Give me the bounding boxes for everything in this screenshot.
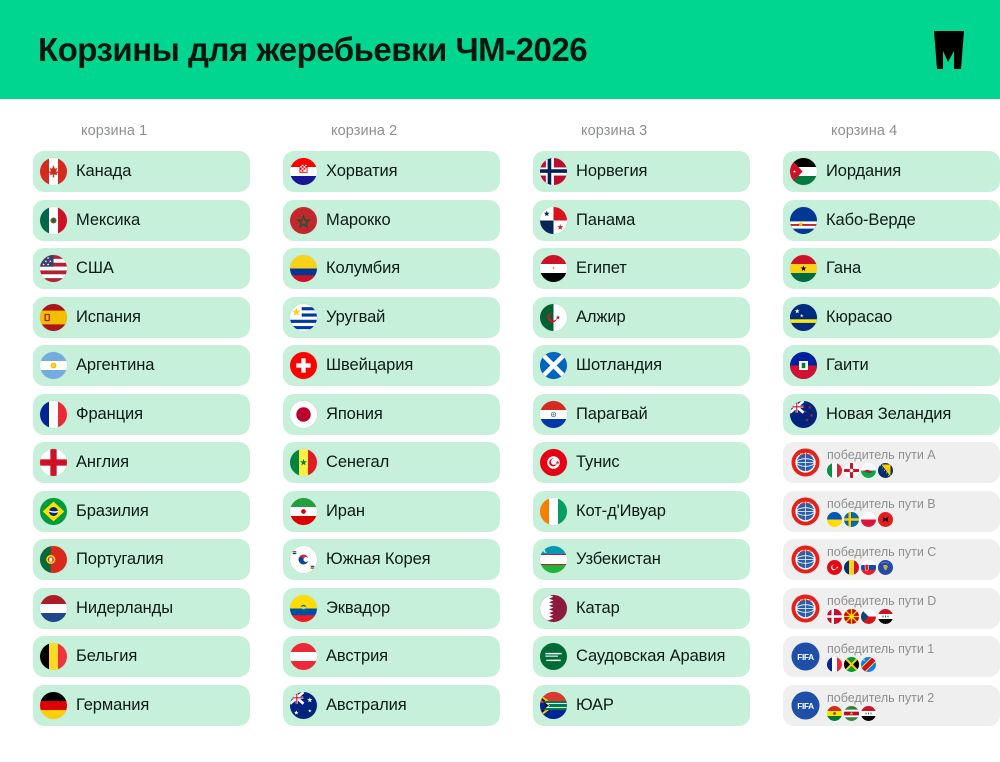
flag-icon-sn	[290, 449, 317, 476]
flag-icon-ba	[878, 463, 893, 478]
team-name: Кюрасао	[826, 308, 892, 327]
team-name: США	[76, 259, 114, 278]
team-row[interactable]: ЮАР	[533, 685, 750, 726]
team-name: Парагвай	[576, 405, 648, 424]
team-row[interactable]: Шотландия	[533, 345, 750, 386]
uefa-badge-icon: UEFA	[791, 594, 820, 623]
team-row[interactable]: Кюрасао	[783, 297, 1000, 338]
flag-icon-ma	[290, 207, 317, 234]
team-row[interactable]: Австралия	[283, 685, 500, 726]
team-row[interactable]: Бразилия	[33, 491, 250, 532]
flag-icon-ua	[827, 512, 842, 527]
team-name: Бельгия	[76, 647, 137, 666]
pot-column-1: корзина 1КанадаМексикаСШАИспанияАргентин…	[33, 99, 250, 726]
team-row[interactable]: США	[33, 248, 250, 289]
flag-icon-ar	[40, 352, 67, 379]
team-row[interactable]: Гаити	[783, 345, 1000, 386]
team-row[interactable]: Мексика	[33, 200, 250, 241]
pot-row-list: ИорданияКабо-ВердеГанаКюрасаоГаитиНовая …	[783, 151, 1000, 726]
flag-icon-cz	[861, 609, 876, 624]
team-row[interactable]: Панама	[533, 200, 750, 241]
pot-column-3: корзина 3НорвегияПанамаЕгипетАлжирШотлан…	[533, 99, 750, 726]
flag-icon-sct	[540, 352, 567, 379]
pot-heading: корзина 1	[33, 99, 250, 151]
uefa-badge-icon: UEFA	[791, 497, 820, 526]
flag-icon-mx	[40, 207, 67, 234]
team-name: Швейцария	[326, 356, 413, 375]
page-title: Корзины для жеребьевки ЧМ-2026	[38, 31, 587, 69]
team-name: Испания	[76, 308, 141, 327]
team-row[interactable]: Хорватия	[283, 151, 500, 192]
svg-text:FIFA: FIFA	[797, 652, 814, 662]
flag-icon-pl	[861, 512, 876, 527]
playoff-label: победитель пути C	[827, 545, 936, 559]
playoff-label: победитель пути B	[827, 497, 936, 511]
flag-icon-es	[40, 304, 67, 331]
flag-icon-no	[540, 158, 567, 185]
svg-text:UEFA: UEFA	[799, 548, 812, 554]
team-row[interactable]: Саудовская Аравия	[533, 636, 750, 677]
pot-column-4: корзина 4ИорданияКабо-ВердеГанаКюрасаоГа…	[783, 99, 1000, 726]
flag-icon-sk	[861, 560, 876, 575]
pot-row-list: ХорватияМароккоКолумбияУругвайШвейцарияЯ…	[283, 151, 500, 726]
flag-icon-ec	[290, 595, 317, 622]
playoff-row[interactable]: FIFAпобедитель пути 1	[783, 636, 1000, 677]
team-row[interactable]: Иран	[283, 491, 500, 532]
flag-icon-gh	[790, 255, 817, 282]
flag-icon-fr	[40, 401, 67, 428]
team-name: Норвегия	[576, 162, 647, 181]
team-row[interactable]: Австрия	[283, 636, 500, 677]
team-name: Австралия	[326, 696, 407, 715]
team-name: Бразилия	[76, 502, 149, 521]
svg-text:UEFA: UEFA	[799, 500, 812, 506]
flag-icon-bo	[827, 706, 842, 721]
flag-icon-dk	[827, 609, 842, 624]
flag-icon-qa	[540, 595, 567, 622]
flag-icon-ir	[290, 498, 317, 525]
team-row[interactable]: Колумбия	[283, 248, 500, 289]
flag-icon-ht	[790, 352, 817, 379]
team-row[interactable]: Бельгия	[33, 636, 250, 677]
flag-icon-iq	[861, 706, 876, 721]
flag-icon-pt	[40, 546, 67, 573]
team-name: Германия	[76, 696, 149, 715]
candidate-flag-list	[827, 512, 936, 527]
flag-icon-de	[40, 692, 67, 719]
team-row[interactable]: Алжир	[533, 297, 750, 338]
team-row[interactable]: Эквадор	[283, 588, 500, 629]
team-name: Египет	[576, 259, 627, 278]
playoff-body: победитель пути B	[827, 496, 936, 527]
flag-icon-ch	[290, 352, 317, 379]
flag-icon-nc	[827, 657, 842, 672]
flag-icon-tn	[540, 449, 567, 476]
flag-icon-eg	[540, 255, 567, 282]
team-name: Колумбия	[326, 259, 400, 278]
team-name: Марокко	[326, 211, 391, 230]
team-name: Австрия	[326, 647, 388, 666]
team-name: Гаити	[826, 356, 869, 375]
team-name: Тунис	[576, 453, 619, 472]
team-row[interactable]: Узбекистан	[533, 539, 750, 580]
team-name: Гана	[826, 259, 861, 278]
team-name: Панама	[576, 211, 635, 230]
playoff-row[interactable]: UEFAпобедитель пути A	[783, 442, 1000, 483]
team-row[interactable]: Германия	[33, 685, 250, 726]
flag-icon-br	[40, 498, 67, 525]
team-row[interactable]: Гана	[783, 248, 1000, 289]
flag-icon-ci	[540, 498, 567, 525]
team-name: Узбекистан	[576, 550, 661, 569]
flag-icon-xk	[878, 560, 893, 575]
playoff-label: победитель пути A	[827, 448, 936, 462]
flag-icon-uy	[290, 304, 317, 331]
playoff-body: победитель пути A	[827, 447, 936, 478]
flag-icon-mk	[844, 609, 859, 624]
team-name: ЮАР	[576, 696, 614, 715]
team-name: Саудовская Аравия	[576, 647, 725, 666]
flag-icon-py	[540, 401, 567, 428]
team-row[interactable]: Сенегал	[283, 442, 500, 483]
team-row[interactable]: Канада	[33, 151, 250, 192]
uefa-badge-icon: UEFA	[791, 545, 820, 574]
flag-icon-cd	[861, 657, 876, 672]
playoff-label: победитель пути 2	[827, 691, 934, 705]
team-name: Аргентина	[76, 356, 154, 375]
team-row[interactable]: Южная Корея	[283, 539, 500, 580]
pot-column-2: корзина 2ХорватияМароккоКолумбияУругвайШ…	[283, 99, 500, 726]
pot-row-list: КанадаМексикаСШАИспанияАргентинаФранцияА…	[33, 151, 250, 726]
playoff-label: победитель пути D	[827, 594, 936, 608]
flag-icon-wal	[861, 463, 876, 478]
flag-icon-ro	[844, 560, 859, 575]
pot-heading: корзина 2	[283, 99, 500, 151]
team-name: Кабо-Верде	[826, 211, 916, 230]
candidate-flag-list	[827, 706, 934, 721]
uefa-badge-icon: UEFA	[791, 448, 820, 477]
team-name: Иордания	[826, 162, 901, 181]
svg-text:UEFA: UEFA	[799, 597, 812, 603]
team-name: Сенегал	[326, 453, 389, 472]
flag-icon-pa	[540, 207, 567, 234]
flag-icon-cw	[790, 304, 817, 331]
team-name: Уругвай	[326, 308, 385, 327]
flag-icon-za	[540, 692, 567, 719]
team-name: Португалия	[76, 550, 163, 569]
team-name: Нидерланды	[76, 599, 173, 618]
flag-icon-jm	[844, 657, 859, 672]
pot-row-list: НорвегияПанамаЕгипетАлжирШотландияПарагв…	[533, 151, 750, 726]
flag-icon-at	[290, 643, 317, 670]
team-row[interactable]: Иордания	[783, 151, 1000, 192]
team-row[interactable]: Испания	[33, 297, 250, 338]
flag-icon-be	[40, 643, 67, 670]
flag-icon-sr	[844, 706, 859, 721]
team-name: Канада	[76, 162, 131, 181]
publisher-logo-icon	[932, 29, 966, 71]
svg-text:FIFA: FIFA	[797, 700, 814, 710]
page-header: Корзины для жеребьевки ЧМ-2026	[0, 0, 1000, 99]
team-name: Южная Корея	[326, 550, 431, 569]
team-row[interactable]: Норвегия	[533, 151, 750, 192]
flag-icon-uz	[540, 546, 567, 573]
flag-icon-al	[878, 512, 893, 527]
team-name: Франция	[76, 405, 143, 424]
team-name: Катар	[576, 599, 620, 618]
team-name: Алжир	[576, 308, 626, 327]
team-name: Япония	[326, 405, 383, 424]
team-name: Иран	[326, 502, 365, 521]
team-row[interactable]: Нидерланды	[33, 588, 250, 629]
team-name: Новая Зеландия	[826, 405, 951, 424]
team-row[interactable]: Япония	[283, 394, 500, 435]
flag-icon-tr	[827, 560, 842, 575]
flag-icon-hr	[290, 158, 317, 185]
flag-icon-dz	[540, 304, 567, 331]
team-row[interactable]: Катар	[533, 588, 750, 629]
playoff-body: победитель пути D	[827, 593, 936, 624]
team-row[interactable]: Аргентина	[33, 345, 250, 386]
team-name: Хорватия	[326, 162, 397, 181]
team-row[interactable]: Египет	[533, 248, 750, 289]
team-name: Шотландия	[576, 356, 662, 375]
team-row[interactable]: Тунис	[533, 442, 750, 483]
flag-icon-jp	[290, 401, 317, 428]
flag-icon-kr	[290, 546, 317, 573]
team-row[interactable]: Франция	[33, 394, 250, 435]
pots-board: корзина 1КанадаМексикаСШАИспанияАргентин…	[0, 99, 1000, 726]
flag-icon-sa	[540, 643, 567, 670]
playoff-row[interactable]: FIFAпобедитель пути 2	[783, 685, 1000, 726]
team-row[interactable]: Кабо-Верде	[783, 200, 1000, 241]
flag-icon-jo	[790, 158, 817, 185]
flag-icon-us	[40, 255, 67, 282]
fifa-badge-icon: FIFA	[791, 691, 820, 720]
playoff-row[interactable]: UEFAпобедитель пути C	[783, 539, 1000, 580]
flag-icon-au	[290, 692, 317, 719]
playoff-body: победитель пути 1	[827, 641, 934, 672]
candidate-flag-list	[827, 657, 934, 672]
team-name: Мексика	[76, 211, 140, 230]
flag-icon-en	[40, 449, 67, 476]
pot-heading: корзина 4	[783, 99, 1000, 151]
svg-text:UEFA: UEFA	[799, 451, 812, 457]
team-row[interactable]: Португалия	[33, 539, 250, 580]
flag-icon-ca	[40, 158, 67, 185]
flag-icon-nz	[790, 401, 817, 428]
candidate-flag-list	[827, 609, 936, 624]
flag-icon-co	[290, 255, 317, 282]
playoff-body: победитель пути 2	[827, 690, 934, 721]
flag-icon-it	[827, 463, 842, 478]
playoff-row[interactable]: UEFAпобедитель пути D	[783, 588, 1000, 629]
team-row[interactable]: Швейцария	[283, 345, 500, 386]
pot-heading: корзина 3	[533, 99, 750, 151]
playoff-label: победитель пути 1	[827, 642, 934, 656]
candidate-flag-list	[827, 463, 936, 478]
team-row[interactable]: Уругвай	[283, 297, 500, 338]
candidate-flag-list	[827, 560, 936, 575]
team-name: Эквадор	[326, 599, 390, 618]
team-name: Англия	[76, 453, 129, 472]
team-row[interactable]: Англия	[33, 442, 250, 483]
flag-icon-nl	[40, 595, 67, 622]
fifa-badge-icon: FIFA	[791, 642, 820, 671]
flag-icon-cv	[790, 207, 817, 234]
team-row[interactable]: Кот-д'Ивуар	[533, 491, 750, 532]
team-row[interactable]: Парагвай	[533, 394, 750, 435]
team-row[interactable]: Марокко	[283, 200, 500, 241]
playoff-body: победитель пути C	[827, 544, 936, 575]
team-name: Кот-д'Ивуар	[576, 502, 666, 521]
flag-icon-se	[844, 512, 859, 527]
flag-icon-nir	[844, 463, 859, 478]
playoff-row[interactable]: UEFAпобедитель пути B	[783, 491, 1000, 532]
flag-icon-iq	[878, 609, 893, 624]
team-row[interactable]: Новая Зеландия	[783, 394, 1000, 435]
